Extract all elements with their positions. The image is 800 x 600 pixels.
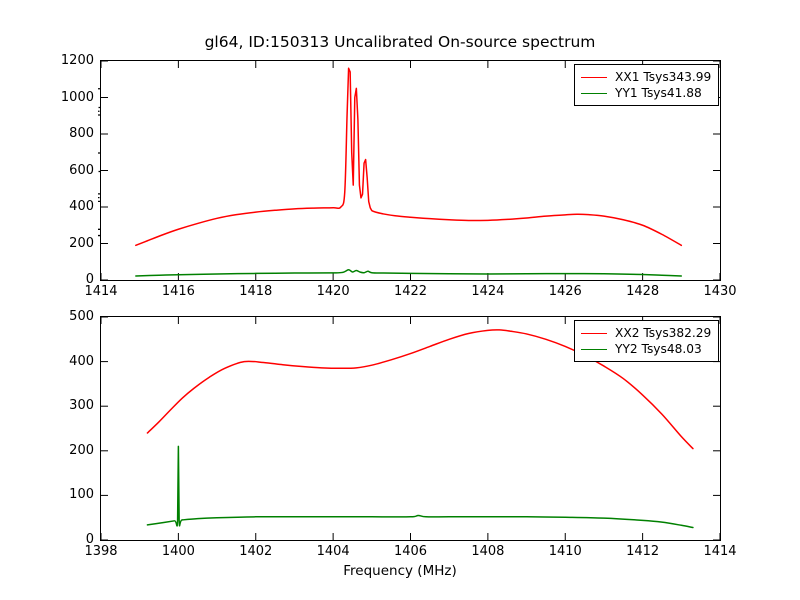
legend-color-swatch xyxy=(581,77,607,78)
y-tick-label: 1200 xyxy=(34,53,94,68)
x-tick-label: 1410 xyxy=(535,544,595,559)
x-tick-label: 1418 xyxy=(226,284,286,299)
y-tick-label: 1000 xyxy=(34,90,94,105)
y-tick-label: 500 xyxy=(34,309,94,324)
legend-color-swatch xyxy=(581,333,607,334)
y-tick-label: 100 xyxy=(34,487,94,502)
y-tick-label: 0 xyxy=(34,272,94,287)
x-tick-label: 1422 xyxy=(381,284,441,299)
legend-entry: XX1 Tsys343.99 xyxy=(581,69,711,85)
x-tick-label: 1426 xyxy=(535,284,595,299)
top-panel-legend: XX1 Tsys343.99YY1 Tsys41.88 xyxy=(574,64,719,106)
series-line xyxy=(136,270,681,276)
series-line xyxy=(147,446,692,527)
legend-label: YY1 Tsys41.88 xyxy=(615,86,702,100)
y-tick-label: 0 xyxy=(34,532,94,547)
figure-title: gl64, ID:150313 Uncalibrated On-source s… xyxy=(0,33,800,51)
legend-label: XX2 Tsys382.29 xyxy=(615,326,711,340)
legend-label: XX1 Tsys343.99 xyxy=(615,70,711,84)
legend-entry: XX2 Tsys382.29 xyxy=(581,325,711,341)
x-tick-label: 1406 xyxy=(381,544,441,559)
x-tick-label: 1412 xyxy=(613,544,673,559)
x-tick-label: 1404 xyxy=(303,544,363,559)
y-tick-label: 400 xyxy=(34,354,94,369)
legend-color-swatch xyxy=(581,349,607,350)
x-tick-label: 1414 xyxy=(690,544,750,559)
x-tick-label: 1430 xyxy=(690,284,750,299)
x-tick-label: 1416 xyxy=(148,284,208,299)
x-tick-label: 1424 xyxy=(458,284,518,299)
y-tick-label: 200 xyxy=(34,236,94,251)
legend-entry: YY2 Tsys48.03 xyxy=(581,341,711,357)
legend-label: YY2 Tsys48.03 xyxy=(615,342,702,356)
x-tick-label: 1408 xyxy=(458,544,518,559)
x-axis-label: Frequency (MHz) xyxy=(0,563,800,579)
y-tick-label: 800 xyxy=(34,126,94,141)
figure-canvas: gl64, ID:150313 Uncalibrated On-source s… xyxy=(0,0,800,600)
x-tick-label: 1420 xyxy=(303,284,363,299)
x-tick-label: 1402 xyxy=(226,544,286,559)
x-tick-label: 1400 xyxy=(148,544,208,559)
x-tick-label: 1428 xyxy=(613,284,673,299)
y-tick-label: 600 xyxy=(34,163,94,178)
y-tick-label: 400 xyxy=(34,199,94,214)
legend-color-swatch xyxy=(581,93,607,94)
bottom-panel-legend: XX2 Tsys382.29YY2 Tsys48.03 xyxy=(574,320,719,362)
legend-entry: YY1 Tsys41.88 xyxy=(581,85,711,101)
y-tick-label: 300 xyxy=(34,398,94,413)
y-tick-label: 200 xyxy=(34,443,94,458)
